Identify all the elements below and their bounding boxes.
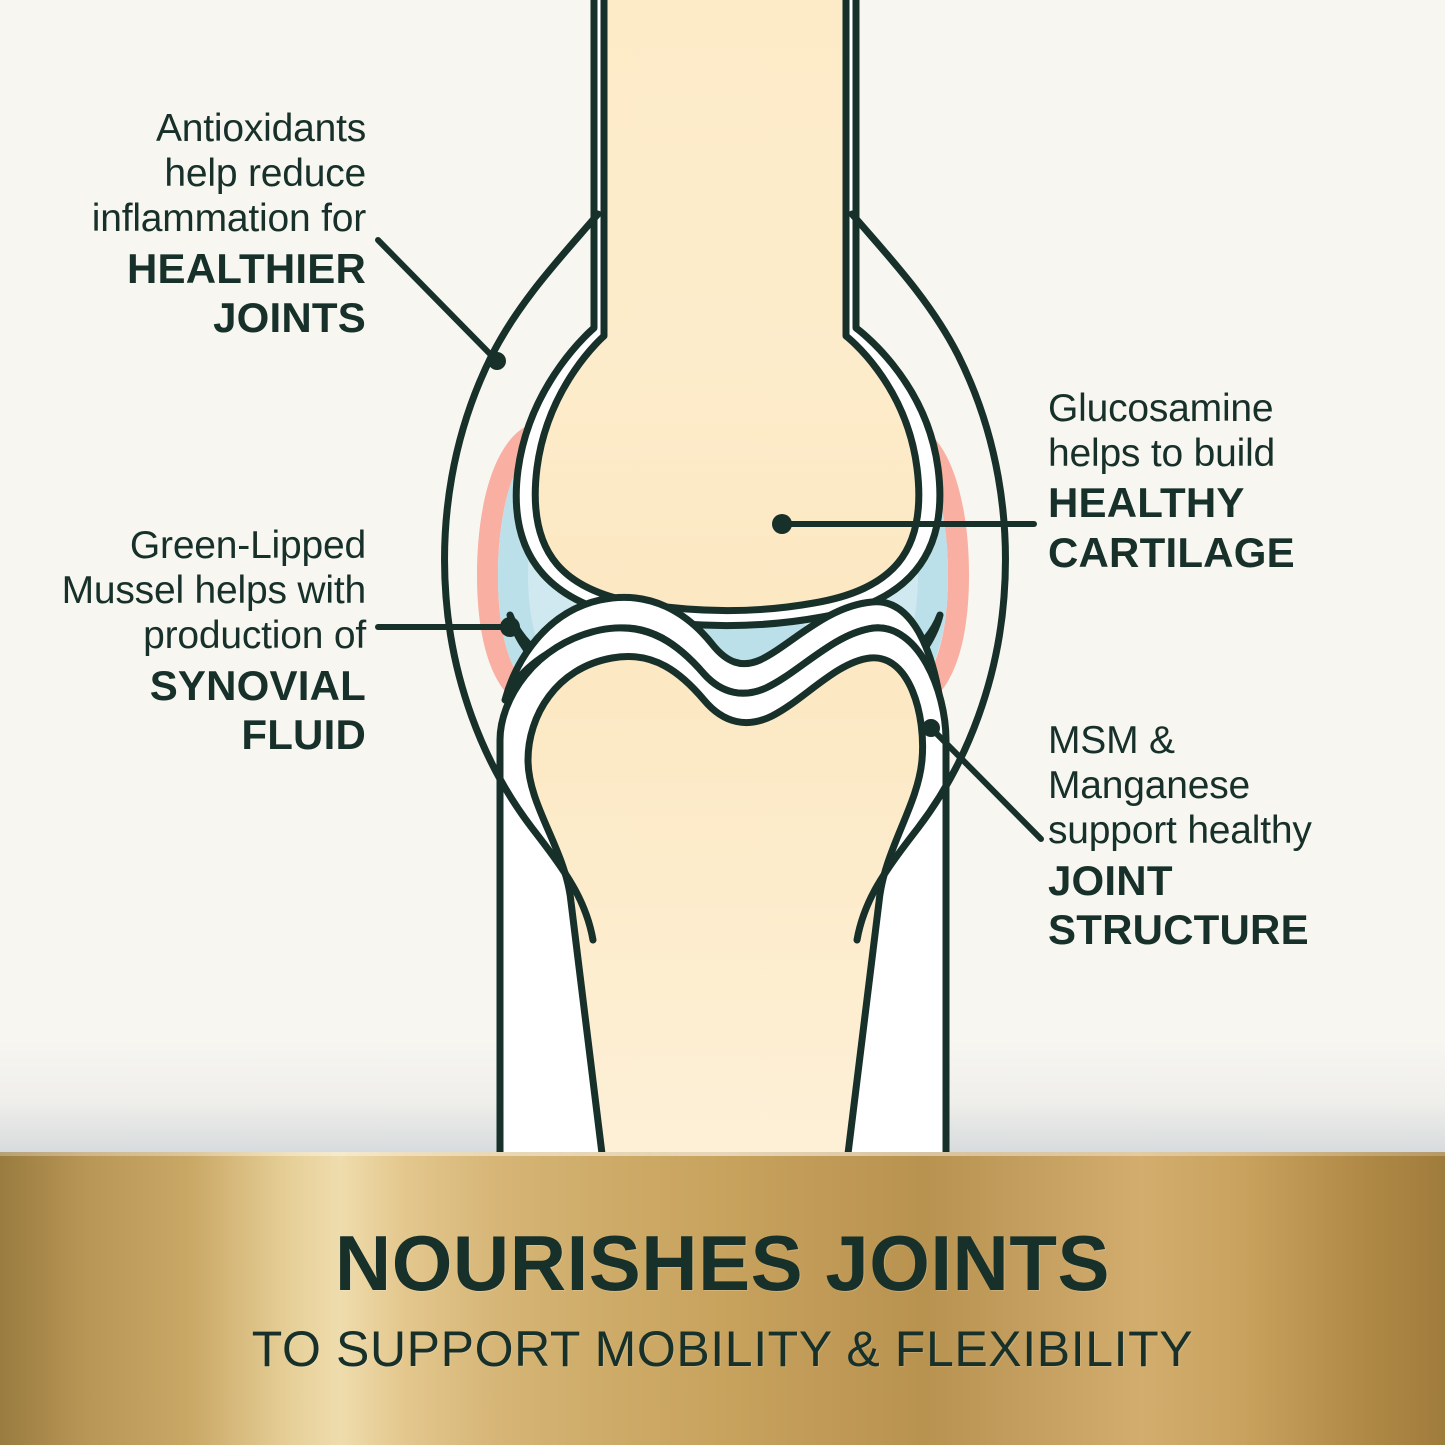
callout-mussel-emphasis: SYNOVIAL FLUID [10,661,366,760]
leader-line-antioxidants [378,240,495,359]
callout-antioxidants: Antioxidants help reduce inflammation fo… [20,106,366,343]
leader-dot-mussel [500,617,520,637]
callout-msm-lead: MSM & Manganese support healthy [1048,718,1440,854]
bottom-banner: NOURISHES JOINTS TO SUPPORT MOBILITY & F… [0,1152,1445,1445]
leader-dot-msm [922,719,940,737]
callout-glucosamine-emphasis: HEALTHY CARTILAGE [1048,478,1438,577]
callout-mussel-lead: Green-Lipped Mussel helps with productio… [10,523,366,659]
callout-msm-emphasis: JOINT STRUCTURE [1048,856,1440,955]
banner-subtitle: TO SUPPORT MOBILITY & FLEXIBILITY [252,1324,1193,1374]
leader-dot-glucosamine [772,514,792,534]
callout-glucosamine-lead: Glucosamine helps to build [1048,386,1438,476]
callout-antioxidants-emphasis: HEALTHIER JOINTS [20,244,366,343]
callout-msm-manganese: MSM & Manganese support healthy JOINT ST… [1048,718,1440,955]
leader-dot-antioxidants [488,352,506,370]
banner-title: NOURISHES JOINTS [335,1224,1110,1302]
callout-antioxidants-lead: Antioxidants help reduce inflammation fo… [20,106,366,242]
callout-green-lipped-mussel: Green-Lipped Mussel helps with productio… [10,523,366,760]
callout-glucosamine: Glucosamine helps to build HEALTHY CARTI… [1048,386,1438,578]
infographic-canvas: Antioxidants help reduce inflammation fo… [0,0,1445,1445]
